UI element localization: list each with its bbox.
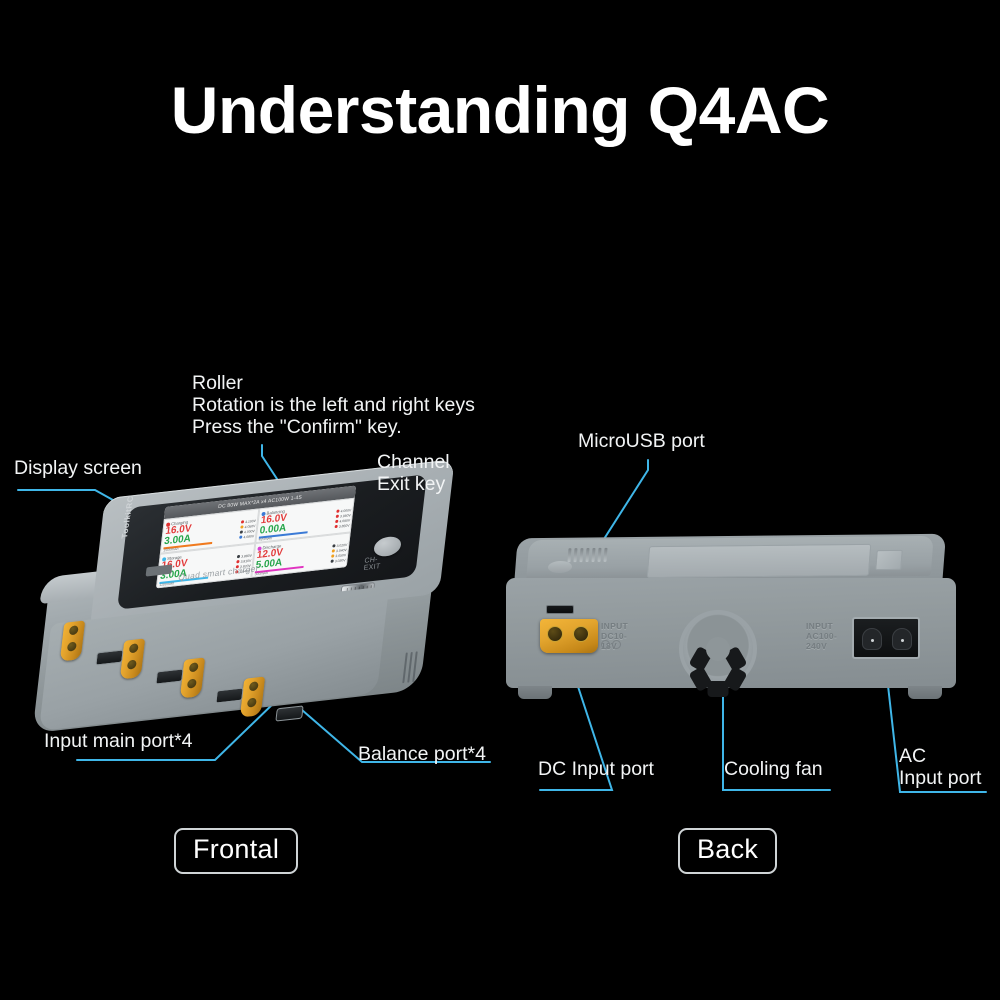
balance-port-4[interactable] xyxy=(275,705,303,721)
front-side-vent-icon xyxy=(402,651,422,683)
input-main-port-4[interactable] xyxy=(240,676,265,717)
channel-1-cells: 4.100V 4.050V 4.000V 4.080V xyxy=(239,519,256,541)
dc-input-port[interactable] xyxy=(540,619,598,653)
channel-4-cells: 3.020V 3.040V 3.050V 3.030V xyxy=(331,543,348,565)
callout-roller: Roller Rotation is the left and right ke… xyxy=(192,372,475,438)
poster-canvas: Understanding Q4AC xyxy=(0,0,1000,1000)
caption-back: Back xyxy=(678,828,777,874)
fan-hub xyxy=(706,637,730,661)
brand-logo: ToolkitRC xyxy=(120,519,164,539)
back-screen-outline xyxy=(647,544,872,578)
back-foot-right xyxy=(908,686,942,699)
channel-exit-key-label: CH-EXIT xyxy=(363,556,381,572)
caption-frontal: Frontal xyxy=(174,828,298,874)
callout-ac-input-port: AC Input port xyxy=(899,745,981,789)
callout-cooling-fan: Cooling fan xyxy=(724,758,823,780)
certification-marks-icon xyxy=(601,640,621,649)
dc-input-label-line1: INPUT xyxy=(601,621,628,631)
cooling-fan xyxy=(679,610,757,688)
callout-balance-port: Balance port*4 xyxy=(358,743,486,765)
callout-display-screen: Display screen xyxy=(14,457,142,479)
callout-microusb-port: MicroUSB port xyxy=(578,430,705,452)
channel-2-cells: 4.000V 3.950V 4.090V 3.850V xyxy=(335,508,352,530)
callout-dc-input-port: DC Input port xyxy=(538,758,654,780)
ac-input-label-line2: AC100-240V xyxy=(806,631,837,651)
ac-input-port[interactable] xyxy=(852,617,920,659)
page-title: Understanding Q4AC xyxy=(0,72,1000,148)
callout-channel-exit-key: Channel Exit key xyxy=(377,451,450,495)
back-roller-wheel[interactable] xyxy=(567,548,610,562)
microusb-port[interactable] xyxy=(546,605,574,614)
back-foot-left xyxy=(518,686,552,699)
ac-input-label-line1: INPUT xyxy=(806,621,837,631)
back-spec-label xyxy=(875,550,903,570)
ac-input-label: INPUT AC100-240V xyxy=(806,621,837,651)
callout-input-main-port: Input main port*4 xyxy=(44,730,193,752)
